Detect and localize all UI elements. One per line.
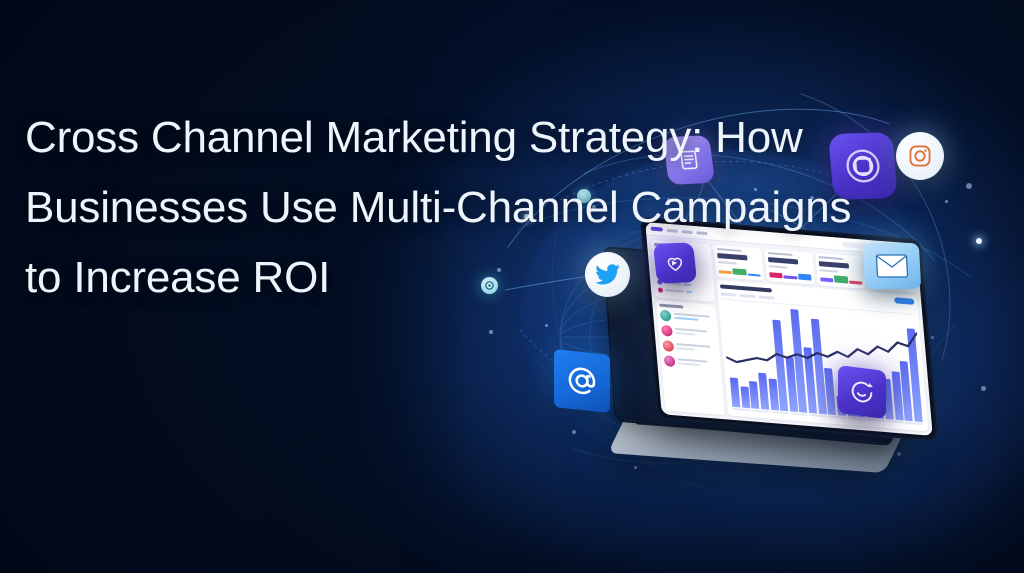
list-item[interactable] (664, 355, 719, 370)
video-heart-icon (653, 242, 697, 283)
email-envelope-icon (863, 243, 921, 289)
chart-bar (730, 377, 741, 407)
tab-year[interactable] (758, 295, 774, 299)
kpi-card-ctr (764, 249, 815, 285)
title-line-3: to Increase ROI (25, 243, 455, 313)
chart-bar (740, 386, 750, 408)
tab-month[interactable] (739, 294, 755, 298)
at-mention-icon (554, 352, 614, 414)
twitter-bird-icon (585, 252, 630, 297)
kpi-card-spend (815, 253, 866, 289)
tab-week[interactable] (721, 292, 737, 296)
target-icon (481, 277, 498, 294)
audience-card (656, 300, 725, 415)
chart-bar (749, 381, 759, 409)
title-line-1: Cross Channel Marketing Strategy: How (25, 103, 455, 173)
list-item[interactable] (658, 287, 712, 296)
list-item[interactable] (660, 310, 715, 325)
chart-trend-line (721, 299, 922, 393)
chart-export-button[interactable] (894, 297, 914, 305)
page-title: Cross Channel Marketing Strategy: How Bu… (25, 103, 455, 313)
list-item[interactable] (661, 325, 716, 340)
audience-card-title (659, 304, 683, 309)
kpi-card-reach (713, 245, 764, 281)
hero-banner: Cross Channel Marketing Strategy: How Bu… (0, 0, 1024, 573)
engagement-refresh-icon (838, 368, 890, 422)
title-line-2: Businesses Use Multi-Channel Campaigns (25, 173, 455, 243)
list-item[interactable] (662, 340, 717, 355)
instagram-camera-icon (896, 132, 944, 180)
performance-chart-card (717, 280, 929, 431)
chart-plot-area (721, 298, 925, 428)
chart-title (720, 285, 772, 293)
